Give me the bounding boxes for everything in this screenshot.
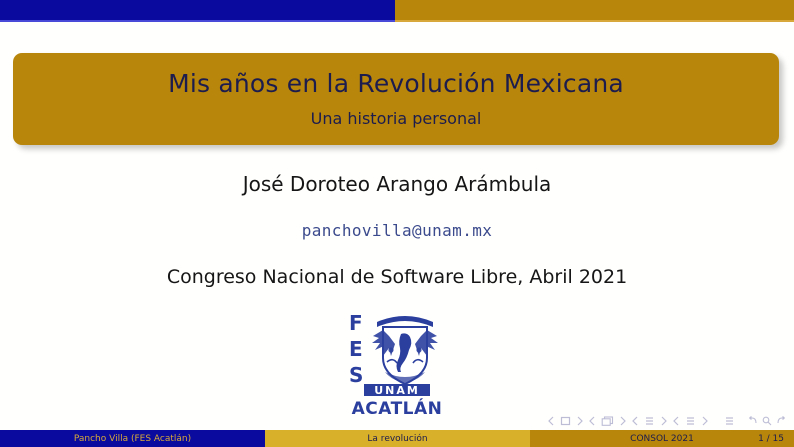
fes-acatlan-unam-logo-icon: F E S [337, 306, 457, 418]
title-metadata: José Doroteo Arango Arámbula panchovilla… [0, 172, 794, 288]
footer-page-number: 1 / 15 [758, 434, 784, 444]
page-title: Mis años en la Revolución Mexicana [168, 70, 624, 99]
top-bar-gold-segment [395, 0, 794, 20]
top-bar-gold-underline [395, 20, 794, 22]
logo-letter-f: F [349, 311, 363, 335]
next-slide-arrow-icon[interactable] [575, 416, 584, 426]
prev-subsection-arrow-icon[interactable] [631, 416, 640, 426]
next-frame-arrow-icon[interactable] [618, 416, 627, 426]
footer-author: Pancho Villa (FES Acatlán) [0, 430, 265, 447]
search-icon[interactable] [762, 416, 772, 426]
section-icon[interactable] [685, 416, 696, 426]
unam-band-text: UNAM [374, 384, 420, 397]
frame-icon[interactable] [601, 416, 614, 426]
top-decoration-bar [0, 0, 794, 20]
document-icon[interactable] [724, 416, 735, 426]
prev-frame-arrow-icon[interactable] [588, 416, 597, 426]
event-name: Congreso Nacional de Software Libre, Abr… [0, 266, 794, 288]
slide-icon[interactable] [560, 416, 571, 426]
acatlan-wordmark: ACATLÁN [352, 397, 443, 418]
top-bar-navy-segment [0, 0, 395, 20]
logo-letter-e: E [349, 337, 363, 361]
forward-arrow-icon[interactable] [776, 416, 786, 426]
top-bar-navy-underline [0, 20, 395, 22]
back-arrow-icon[interactable] [748, 416, 758, 426]
author-name: José Doroteo Arango Arámbula [0, 172, 794, 196]
footer-section-title: La revolución [265, 430, 530, 447]
footer-right-segment: CONSOL 2021 1 / 15 [530, 430, 794, 447]
footer-institution: CONSOL 2021 [530, 434, 794, 444]
beamer-slide: Mis años en la Revolución Mexicana Una h… [0, 0, 794, 447]
prev-section-arrow-icon[interactable] [672, 416, 681, 426]
institution-logo: F E S [0, 306, 794, 418]
page-subtitle: Una historia personal [311, 109, 482, 128]
title-block: Mis años en la Revolución Mexicana Una h… [13, 53, 779, 145]
prev-slide-arrow-icon[interactable] [547, 416, 556, 426]
footer-bar: Pancho Villa (FES Acatlán) La revolución… [0, 430, 794, 447]
subsection-icon[interactable] [644, 416, 655, 426]
next-section-arrow-icon[interactable] [700, 416, 709, 426]
author-email-link[interactable]: panchovilla@unam.mx [302, 221, 493, 240]
next-subsection-arrow-icon[interactable] [659, 416, 668, 426]
beamer-navigation-symbols[interactable] [547, 414, 786, 428]
logo-letter-s: S [349, 363, 363, 387]
